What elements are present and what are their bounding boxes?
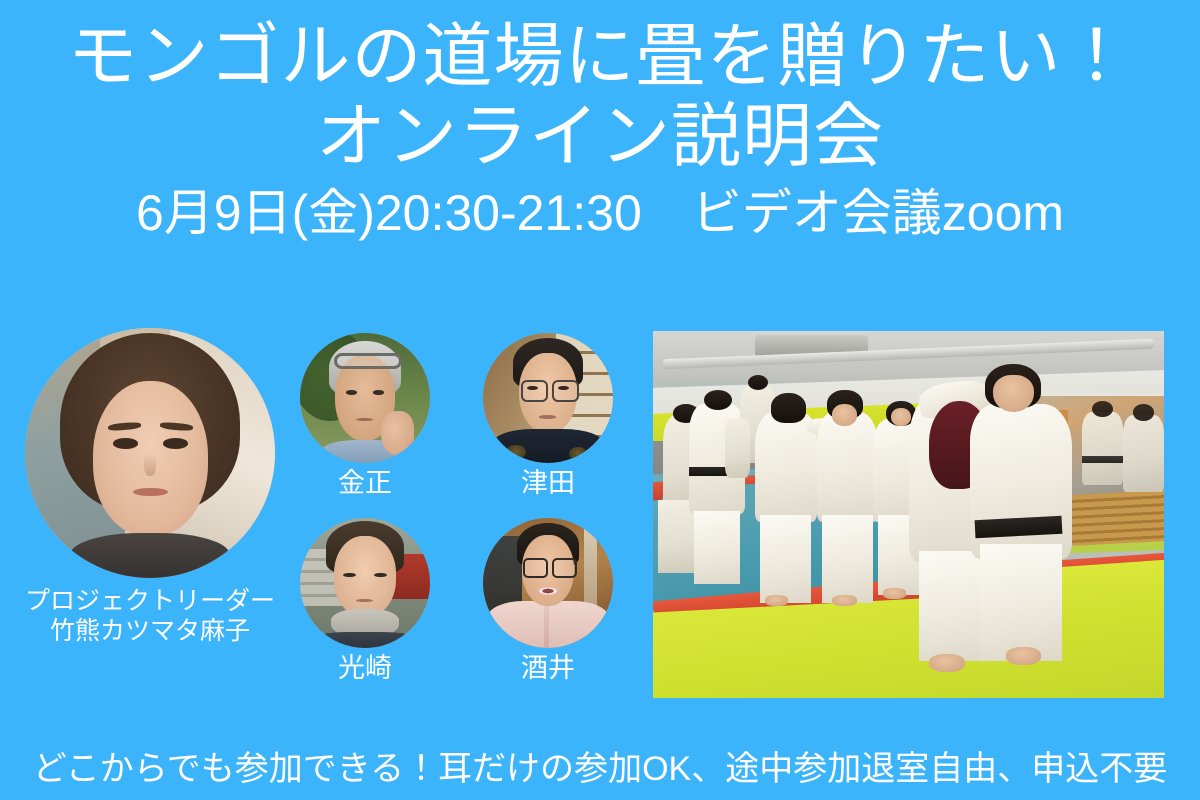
member-name-1: 津田 (483, 467, 613, 499)
glasses-lens-right (552, 558, 577, 578)
member-card-1: 津田 (483, 333, 613, 499)
member-card-2: 光崎 (300, 518, 430, 684)
mirror-judoka-2 (1123, 415, 1164, 492)
member-card-0: 金正 (300, 333, 430, 499)
mouth-shape (356, 599, 373, 602)
avatar-member-3 (483, 518, 613, 648)
member-name-2: 光崎 (300, 652, 430, 684)
main-photo-dojo (653, 331, 1164, 698)
eye-left (113, 438, 138, 449)
mouth-shape (356, 418, 373, 421)
member-3-photo-scene (483, 518, 613, 648)
glasses-lens-right (552, 380, 579, 402)
avatar-member-2 (300, 518, 430, 648)
eye-right (163, 438, 188, 449)
judoka-pair1-right-legs (822, 515, 873, 603)
judoka-pair1-left-legs (760, 515, 811, 603)
judoka-standing-foot (883, 588, 906, 599)
footer-note: どこからでも参加できる！耳だけの参加OK、途中参加退室自由、申込不要 (0, 748, 1200, 790)
shirt-shape (70, 533, 230, 578)
shirt-shape (313, 632, 417, 648)
member-2-photo-scene (300, 518, 430, 648)
page-title-line1: モンゴルの道場に畳を贈りたい！ (0, 18, 1200, 94)
judoka-pair1-right-foot (832, 595, 858, 606)
poster-header: モンゴルの道場に畳を贈りたい！ オンライン説明会 6月9日(金)20:30-21… (0, 0, 1200, 242)
judoka-background-2-head (704, 390, 732, 410)
hand-shape (381, 411, 415, 455)
leader-role: プロジェクトリーダー (25, 586, 275, 616)
face-shape (334, 536, 396, 617)
mouth-shape (133, 488, 168, 496)
mouth-shape (538, 587, 559, 595)
mirror-judoka-1-belt (1082, 456, 1123, 463)
judoka-pair1-left-foot (765, 595, 788, 606)
member-0-photo-scene (300, 333, 430, 463)
avatar-member-1 (483, 333, 613, 463)
avatar-member-0 (300, 333, 430, 463)
member-name-3: 酒井 (483, 652, 613, 684)
judoka-background-2-legs (694, 511, 740, 584)
member-1-photo-scene (483, 333, 613, 463)
judoka-pair1-right-body (817, 412, 878, 522)
member-card-3: 酒井 (483, 518, 613, 684)
jacket-emblem-left (506, 445, 526, 459)
mirror-judoka-1-head (1092, 401, 1112, 417)
page-title-line2: オンライン説明会 (0, 98, 1200, 174)
event-poster: モンゴルの道場に畳を贈りたい！ オンライン説明会 6月9日(金)20:30-21… (0, 0, 1200, 800)
judoka-foreground-front-face (993, 375, 1034, 412)
mirror-judoka-1 (1082, 412, 1123, 485)
leader-name: 竹熊カツマタ麻子 (25, 616, 275, 646)
judoka-foreground-front-foot (1006, 647, 1042, 665)
people-section: プロジェクトリーダー 竹熊カツマタ麻子 金正 (0, 328, 640, 708)
leader-photo-scene (25, 328, 275, 578)
mirror-judoka-2-head (1133, 404, 1153, 420)
judoka-standing-face (891, 408, 911, 426)
leader-block: プロジェクトリーダー 竹熊カツマタ麻子 (25, 328, 275, 646)
judoka-pair1-left-head (771, 393, 807, 422)
eye-right (373, 390, 385, 394)
avatar-leader (25, 328, 275, 578)
event-schedule: 6月9日(金)20:30-21:30 ビデオ会議zoom (0, 184, 1200, 242)
shirt-placket (544, 604, 549, 648)
member-name-0: 金正 (300, 467, 430, 499)
mouth-shape (539, 415, 556, 419)
glasses-lens-left (521, 380, 548, 402)
bystander-dark (725, 419, 751, 478)
judoka-foreground-front-legs (980, 544, 1062, 661)
glasses-on-head-icon (334, 353, 402, 369)
nose-shape (144, 453, 157, 476)
judoka-foreground-back-foot (929, 654, 965, 672)
eye-left (346, 390, 358, 394)
glasses-lens-left (523, 558, 548, 578)
